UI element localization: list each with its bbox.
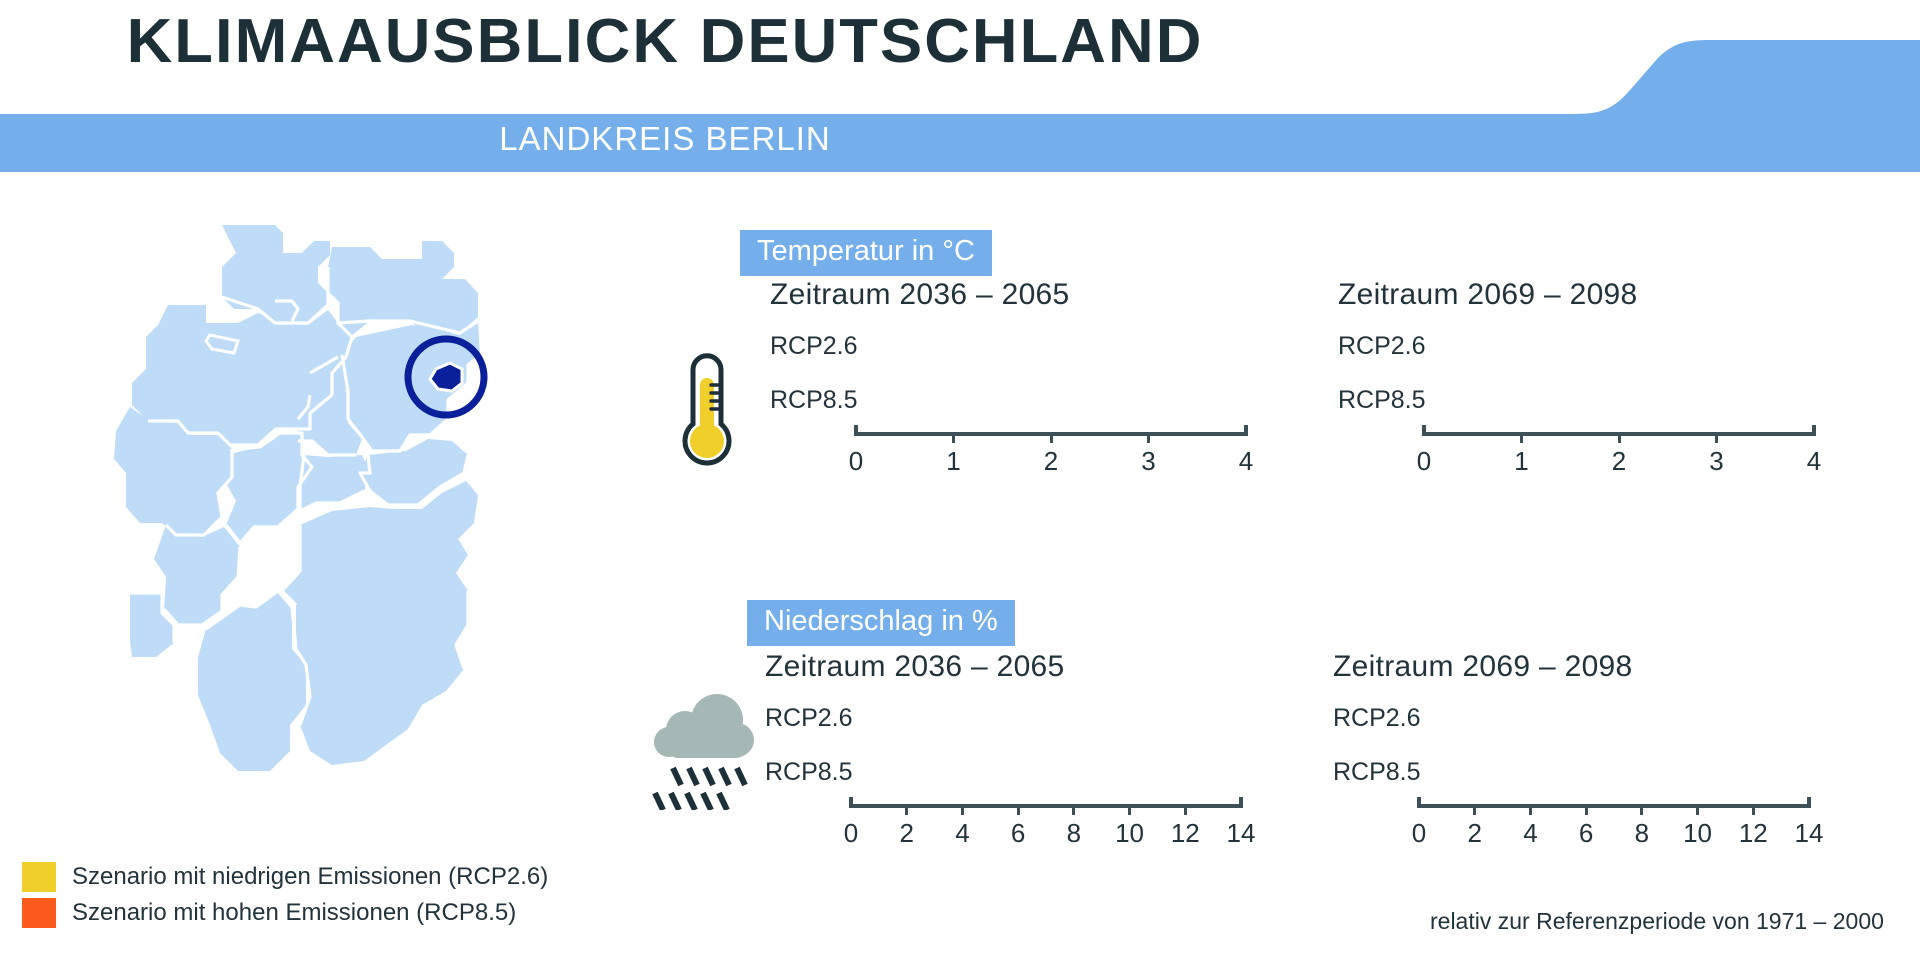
footnote: relativ zur Referenzperiode von 1971 – 2… <box>1430 908 1884 935</box>
bar-label: RCP8.5 <box>1333 758 1429 787</box>
x-axis: 02468101214 <box>765 804 1251 850</box>
axis-tick-label: 8 <box>1635 818 1649 849</box>
bar-track <box>861 750 1251 794</box>
bar-label: RCP8.5 <box>765 758 861 787</box>
chart-title: Zeitraum 2069 – 2098 <box>1333 650 1819 684</box>
axis-tick-label: 6 <box>1579 818 1593 849</box>
bar-label: RCP8.5 <box>770 386 866 415</box>
axis-tick-label: 12 <box>1739 818 1768 849</box>
axis-tick <box>1752 804 1755 815</box>
chart-title: Zeitraum 2036 – 2065 <box>770 278 1256 312</box>
bar-row: RCP8.5 <box>765 750 1251 794</box>
axis-tick-label: 1 <box>946 446 960 477</box>
axis-tick-label: 0 <box>849 446 863 477</box>
chart-title: Zeitraum 2036 – 2065 <box>765 650 1251 684</box>
axis-tick <box>854 425 858 436</box>
bar-track <box>861 696 1251 740</box>
axis-tick <box>1618 432 1621 443</box>
bar-row: RCP2.6 <box>1338 324 1824 368</box>
bar-label: RCP2.6 <box>1333 704 1429 733</box>
germany-map[interactable] <box>70 205 510 825</box>
legend-label-rcp26: Szenario mit niedrigen Emissionen (RCP2.… <box>72 863 548 891</box>
bar-label: RCP2.6 <box>770 332 866 361</box>
axis-tick-label: 8 <box>1067 818 1081 849</box>
axis-tick <box>905 804 908 815</box>
bar-row: RCP8.5 <box>770 378 1256 422</box>
axis-tick-label: 3 <box>1141 446 1155 477</box>
axis-tick <box>1812 425 1816 436</box>
axis-tick-label: 2 <box>1044 446 1058 477</box>
axis-tick-label: 14 <box>1227 818 1256 849</box>
axis-tick <box>1520 432 1523 443</box>
axis-tick <box>1585 804 1588 815</box>
bar-row: RCP2.6 <box>1333 696 1819 740</box>
axis-tick <box>1473 804 1476 815</box>
axis-tick-label: 3 <box>1709 446 1723 477</box>
bar-row: RCP2.6 <box>765 696 1251 740</box>
axis-tick <box>952 432 955 443</box>
axis-line <box>1419 804 1809 808</box>
axis-tick-label: 4 <box>1523 818 1537 849</box>
section-badge-temperature: Temperatur in °C <box>740 230 992 276</box>
bar-track <box>1434 378 1824 422</box>
axis-tick <box>961 804 964 815</box>
axis-tick-label: 2 <box>1612 446 1626 477</box>
bar-row: RCP8.5 <box>1338 378 1824 422</box>
axis-tick <box>1529 804 1532 815</box>
banner-ramp <box>1540 40 1920 115</box>
bar-track <box>866 378 1256 422</box>
axis-tick <box>1696 804 1699 815</box>
axis-tick-label: 14 <box>1795 818 1824 849</box>
axis-tick-label: 4 <box>1239 446 1253 477</box>
x-axis: 01234 <box>1338 432 1824 478</box>
axis-tick <box>1807 797 1811 808</box>
chart-precipitation-2036-2065: Zeitraum 2036 – 2065 RCP2.6 RCP8.5 02468… <box>765 650 1251 850</box>
legend: Szenario mit niedrigen Emissionen (RCP2.… <box>22 862 548 934</box>
bar-row: RCP8.5 <box>1333 750 1819 794</box>
axis-tick <box>1017 804 1020 815</box>
thermometer-icon <box>672 352 742 472</box>
x-axis: 01234 <box>770 432 1256 478</box>
axis-tick-label: 10 <box>1115 818 1144 849</box>
bar-track <box>1429 696 1819 740</box>
bar-label: RCP2.6 <box>765 704 861 733</box>
legend-item-rcp85: Szenario mit hohen Emissionen (RCP8.5) <box>22 898 548 928</box>
rain-cloud-icon <box>645 692 763 815</box>
chart-temperature-2036-2065: Zeitraum 2036 – 2065 RCP2.6 RCP8.5 01234 <box>770 278 1256 478</box>
axis-tick <box>1715 432 1718 443</box>
axis-tick-label: 2 <box>899 818 913 849</box>
cloud-shape <box>654 694 754 758</box>
axis-tick-label: 10 <box>1683 818 1712 849</box>
axis-tick <box>1244 425 1248 436</box>
axis-tick <box>1128 804 1131 815</box>
axis-tick <box>1184 804 1187 815</box>
bar-label: RCP2.6 <box>1338 332 1434 361</box>
axis-tick <box>1050 432 1053 443</box>
legend-swatch-rcp26 <box>22 862 56 892</box>
infographic-sheet: KLIMAAUSBLICK DEUTSCHLAND LANDKREIS BERL… <box>0 0 1920 960</box>
bar-track <box>1434 324 1824 368</box>
chart-precipitation-2069-2098: Zeitraum 2069 – 2098 RCP2.6 RCP8.5 02468… <box>1333 650 1819 850</box>
axis-tick-label: 2 <box>1467 818 1481 849</box>
legend-label-rcp85: Szenario mit hohen Emissionen (RCP8.5) <box>72 899 516 927</box>
axis-tick-label: 0 <box>844 818 858 849</box>
page-subtitle: LANDKREIS BERLIN <box>0 110 1330 168</box>
axis-tick-label: 12 <box>1171 818 1200 849</box>
rain-strokes <box>655 768 745 810</box>
legend-item-rcp26: Szenario mit niedrigen Emissionen (RCP2.… <box>22 862 548 892</box>
axis-tick-label: 0 <box>1412 818 1426 849</box>
axis-tick-label: 4 <box>1807 446 1821 477</box>
section-badge-precipitation: Niederschlag in % <box>747 600 1015 646</box>
axis-tick <box>1422 425 1426 436</box>
axis-tick-label: 0 <box>1417 446 1431 477</box>
axis-tick <box>1072 804 1075 815</box>
axis-tick-label: 1 <box>1514 446 1528 477</box>
bar-track <box>866 324 1256 368</box>
axis-tick-label: 6 <box>1011 818 1025 849</box>
chart-title: Zeitraum 2069 – 2098 <box>1338 278 1824 312</box>
bar-row: RCP2.6 <box>770 324 1256 368</box>
axis-tick-label: 4 <box>955 818 969 849</box>
axis-tick <box>1417 797 1421 808</box>
bar-track <box>1429 750 1819 794</box>
legend-swatch-rcp85 <box>22 898 56 928</box>
page-title: KLIMAAUSBLICK DEUTSCHLAND <box>0 6 1343 77</box>
axis-tick <box>1239 797 1243 808</box>
axis-line <box>851 804 1241 808</box>
axis-tick <box>1640 804 1643 815</box>
x-axis: 02468101214 <box>1333 804 1819 850</box>
chart-temperature-2069-2098: Zeitraum 2069 – 2098 RCP2.6 RCP8.5 01234 <box>1338 278 1824 478</box>
bar-label: RCP8.5 <box>1338 386 1434 415</box>
axis-tick <box>1147 432 1150 443</box>
axis-tick <box>849 797 853 808</box>
